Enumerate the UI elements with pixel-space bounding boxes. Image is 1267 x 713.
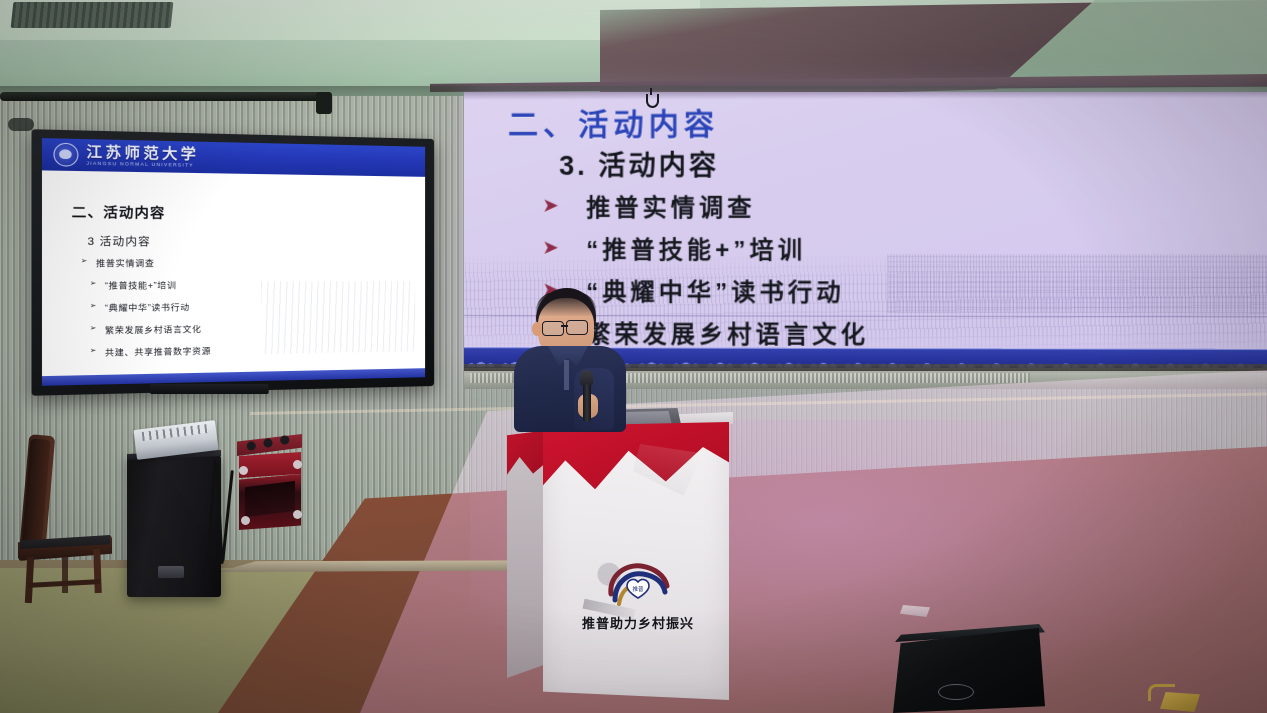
lecture-hall-scene: 江苏师范大学 JIANGSU NORMAL UNIVERSITY 二、活动内容 … bbox=[0, 0, 1267, 713]
slide-title: 二、活动内容 bbox=[508, 99, 719, 144]
podium-slogan: 推普助力乡村振兴 bbox=[563, 613, 713, 632]
slide-bullet-list: ➤ 推普实情调查 ➤ “推普技能+”培训 ➤ “典耀中华”读书行动 繁荣发展乡村… bbox=[542, 187, 1267, 368]
presenter bbox=[512, 288, 628, 428]
slide-bullet-text: 繁荣发展乡村语言文化 bbox=[586, 314, 869, 350]
polo-placket bbox=[564, 360, 569, 390]
wooden-chair bbox=[8, 435, 112, 603]
slide-bullet-item: 繁荣发展乡村语言文化 bbox=[542, 314, 1267, 351]
monitor-bullet-item: ➢ “推普技能+”培训 bbox=[90, 278, 400, 292]
brass-plate bbox=[1160, 692, 1200, 712]
arrow-bullet-icon: ➢ bbox=[90, 301, 97, 311]
monitor-bullet-text: “推普技能+”培训 bbox=[105, 279, 177, 292]
curtain-rail-end bbox=[316, 92, 332, 114]
left-monitor: 江苏师范大学 JIANGSU NORMAL UNIVERSITY 二、活动内容 … bbox=[32, 129, 434, 396]
stage-monitor-brand-icon bbox=[938, 684, 974, 700]
left-monitor-stand bbox=[150, 384, 269, 394]
slide-bullet-item: ➤ 推普实情调查 bbox=[542, 187, 1267, 223]
arrow-bullet-icon: ➤ bbox=[542, 235, 568, 260]
monitor-university-name-cn: 江苏师范大学 bbox=[86, 144, 199, 161]
monitor-bullet-text: 繁荣发展乡村语言文化 bbox=[105, 323, 202, 337]
arrow-bullet-icon: ➢ bbox=[81, 257, 88, 267]
monitor-bullet-text: “典耀中华”读书行动 bbox=[105, 301, 190, 314]
slide-subtitle: 3. 活动内容 bbox=[559, 144, 719, 183]
monitor-bullet-item: ➢ 推普实情调查 bbox=[81, 257, 400, 270]
glasses-bridge bbox=[561, 325, 568, 327]
university-seal-icon bbox=[53, 143, 78, 167]
monitor-bullet-item: ➢ 繁荣发展乡村语言文化 bbox=[90, 320, 400, 336]
smoke-detector-icon bbox=[8, 118, 34, 131]
handheld-microphone-icon bbox=[580, 370, 593, 422]
slide-bullet-text: 推普实情调查 bbox=[586, 188, 755, 223]
monitor-bullet-list: ➢ 推普实情调查 ➢ “推普技能+”培训 ➢ “典耀中华”读书行动 ➢ 繁荣发展… bbox=[81, 257, 400, 369]
glasses-icon bbox=[566, 320, 588, 335]
monitor-bullet-text: 推普实情调查 bbox=[96, 257, 155, 270]
svg-text:推普: 推普 bbox=[632, 585, 644, 593]
glasses-icon bbox=[542, 321, 564, 336]
monitor-bullet-item: ➢ 共建、共享推普数字资源 bbox=[90, 342, 400, 360]
arrow-bullet-icon: ➢ bbox=[90, 346, 97, 356]
audio-cables bbox=[206, 460, 240, 578]
red-rack-case bbox=[237, 434, 302, 534]
arrow-bullet-icon: ➤ bbox=[542, 193, 568, 218]
presenter-fringe bbox=[536, 292, 596, 316]
ceiling-vent-grille bbox=[11, 2, 174, 28]
podium: 推普 推普助力乡村振兴 bbox=[507, 408, 729, 698]
slide-bullet-text: “推普技能+”培训 bbox=[586, 230, 806, 265]
arrow-bullet-icon: ➢ bbox=[90, 279, 97, 289]
monitor-slide-subheading: 3 活动内容 bbox=[87, 233, 150, 249]
monitor-bullet-text: 共建、共享推普数字资源 bbox=[105, 344, 211, 358]
swirl-heart-logo-icon: 推普 bbox=[605, 560, 671, 612]
left-monitor-screen: 江苏师范大学 JIANGSU NORMAL UNIVERSITY 二、活动内容 … bbox=[42, 138, 425, 386]
monitor-slide-body: 二、活动内容 3 活动内容 ➢ 推普实情调查 ➢ “推普技能+”培训 ➢ “典耀… bbox=[42, 170, 425, 385]
presenter-ear bbox=[532, 322, 542, 336]
arrow-bullet-icon: ➢ bbox=[90, 324, 97, 334]
slide-bullet-item: ➤ “推普技能+”培训 bbox=[542, 230, 1267, 266]
monitor-university-name-en: JIANGSU NORMAL UNIVERSITY bbox=[86, 161, 199, 168]
slide-bullet-item: ➤ “典耀中华”读书行动 bbox=[542, 272, 1267, 308]
monitor-slide-heading: 二、活动内容 bbox=[72, 201, 166, 222]
hanging-microphone-icon bbox=[645, 88, 656, 108]
curtain-rail bbox=[0, 92, 330, 101]
speaker-brand-logo-icon bbox=[158, 566, 184, 578]
monitor-bullet-item: ➢ “典耀中华”读书行动 bbox=[90, 299, 400, 314]
